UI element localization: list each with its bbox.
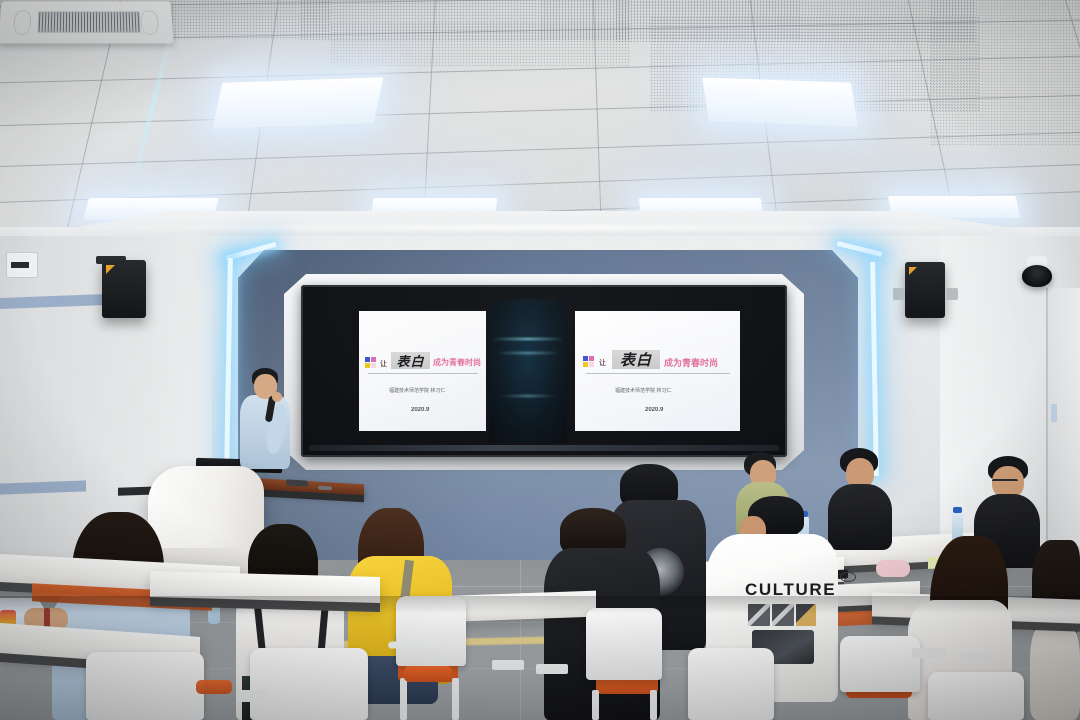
podium-laptop[interactable] <box>286 479 308 486</box>
slide-prefix-text: 让 <box>380 359 387 369</box>
slide-right: 让 表白 成为青春时尚 福建技术师范学院 林习仁 2020.9 <box>575 311 740 431</box>
ac-vane-right <box>140 10 159 34</box>
logo-square-blank <box>589 362 594 367</box>
tshirt-text: CULTURE <box>745 580 836 600</box>
slide-rule <box>368 373 478 374</box>
logo-square-blank <box>371 363 376 368</box>
ac-grille-icon <box>37 12 140 33</box>
slide-title: 成为青春时尚 <box>433 357 481 368</box>
tshirt-graphic <box>748 604 770 626</box>
display-glint <box>492 338 564 340</box>
chair-seat[interactable] <box>404 666 452 682</box>
dome-camera-icon <box>1022 265 1052 287</box>
slide-left: 让 表白 成为青春时尚 福建技术师范学院 林习仁 2020.9 <box>359 311 486 431</box>
slide-title: 成为青春时尚 <box>664 356 718 369</box>
ceiling-light-panel <box>702 77 858 126</box>
slide-logo-squares <box>365 357 376 368</box>
ac-cassette-unit <box>0 1 174 43</box>
tshirt-graphic <box>772 604 794 626</box>
logo-square-pink <box>371 357 376 362</box>
chair-seat[interactable] <box>196 680 232 694</box>
tshirt-graphic <box>796 604 816 626</box>
slide-date: 2020.9 <box>645 407 663 413</box>
ac-vane-left <box>13 10 32 34</box>
wall-control-box-screen <box>11 262 29 268</box>
ceiling <box>0 0 1080 232</box>
logo-square-blue <box>365 357 370 362</box>
slide-rule <box>586 373 730 374</box>
ceiling-light-panel <box>213 77 384 129</box>
logo-square-pink <box>589 356 594 361</box>
display-top-bar <box>309 292 779 297</box>
wall-speaker-right <box>905 262 945 318</box>
glasses-icon <box>992 479 1018 486</box>
slide-calligraphy: 表白 <box>612 350 660 369</box>
display-glint <box>496 352 560 354</box>
water-bottle-cap <box>953 507 962 513</box>
presenter-hand <box>272 392 282 402</box>
speaker-side-mount-left <box>893 288 905 300</box>
classroom-photo: 让 表白 成为青春时尚 福建技术师范学院 林习仁 2020.9 让 表白 成为青… <box>0 0 1080 720</box>
wall-control-box[interactable] <box>6 252 38 278</box>
display-glint <box>500 395 556 397</box>
door-card-reader[interactable] <box>1051 404 1057 422</box>
soffit-cove-light <box>60 225 1020 230</box>
logo-square-yellow <box>365 363 370 368</box>
slide-subtitle: 福建技术师范学院 林习仁 <box>389 387 445 394</box>
wall-speaker-left <box>102 260 146 318</box>
speaker-badge-icon <box>106 265 115 274</box>
display-center-gap <box>489 299 567 443</box>
speaker-badge-icon <box>909 267 917 275</box>
logo-square-yellow <box>583 362 588 367</box>
podium-cable <box>318 486 332 491</box>
slide-prefix-text: 让 <box>599 358 606 368</box>
speaker-side-mount-right <box>946 288 958 300</box>
slide-logo-squares <box>583 356 594 367</box>
pink-pouch <box>876 560 910 577</box>
slide-subtitle: 福建技术师范学院 林习仁 <box>615 387 671 394</box>
display-bottom-bar <box>309 445 779 451</box>
earbuds <box>840 572 856 582</box>
slide-calligraphy: 表白 <box>391 352 430 369</box>
logo-square-blue <box>583 356 588 361</box>
slide-date: 2020.9 <box>411 407 429 413</box>
